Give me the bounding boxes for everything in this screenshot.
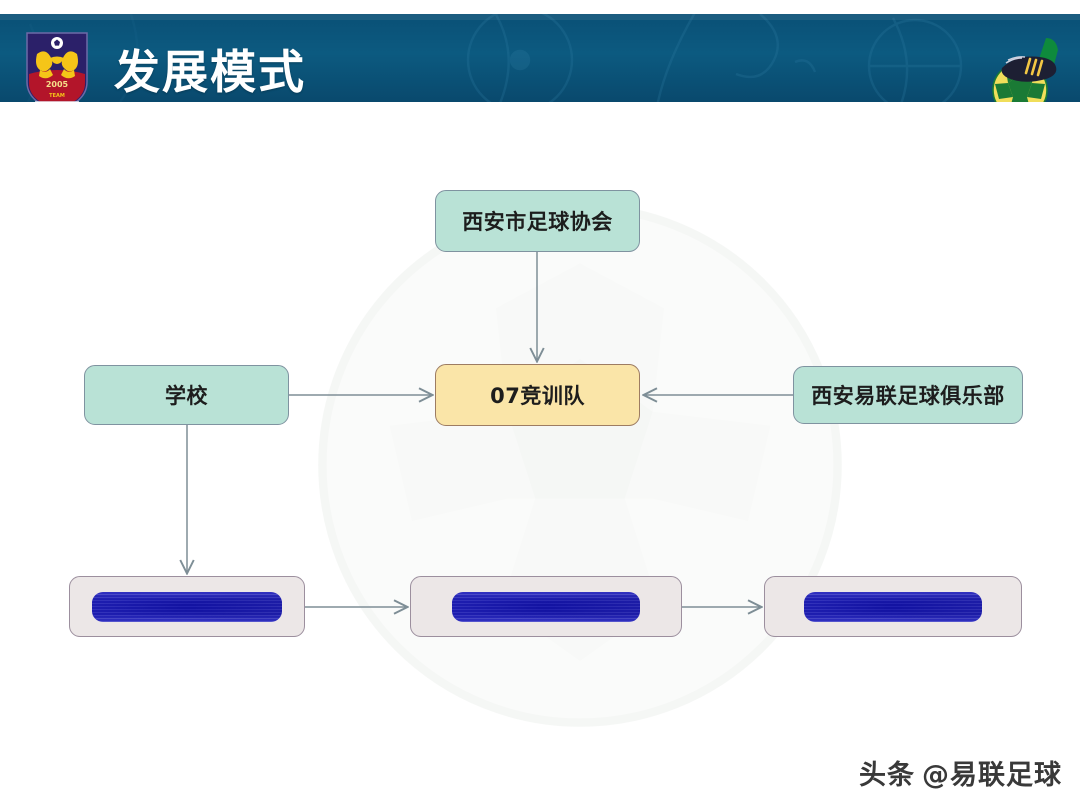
node-07-training-team[interactable]: 07竞训队: [435, 364, 640, 426]
watermark-platform: 头条: [859, 753, 915, 792]
node-xian-yilian-football-club[interactable]: 西安易联足球俱乐部: [793, 366, 1023, 424]
node-school[interactable]: 学校: [84, 365, 289, 425]
watermark: 头条 @易联足球: [859, 753, 1062, 792]
node-xian-football-association[interactable]: 西安市足球协会: [435, 190, 640, 252]
node-redacted-1[interactable]: [69, 576, 305, 637]
watermark-handle: @易联足球: [922, 753, 1062, 792]
node-redacted-2[interactable]: [410, 576, 682, 637]
node-redacted-3[interactable]: [764, 576, 1022, 637]
redaction-scribble-icon: [92, 592, 282, 622]
flowchart-diagram: 西安市足球协会 学校 07竞训队 西安易联足球俱乐部: [0, 0, 1080, 810]
redaction-scribble-icon: [804, 592, 982, 622]
redaction-scribble-icon: [452, 592, 640, 622]
slide-canvas: 2005 TEAM 发展模式: [0, 0, 1080, 810]
